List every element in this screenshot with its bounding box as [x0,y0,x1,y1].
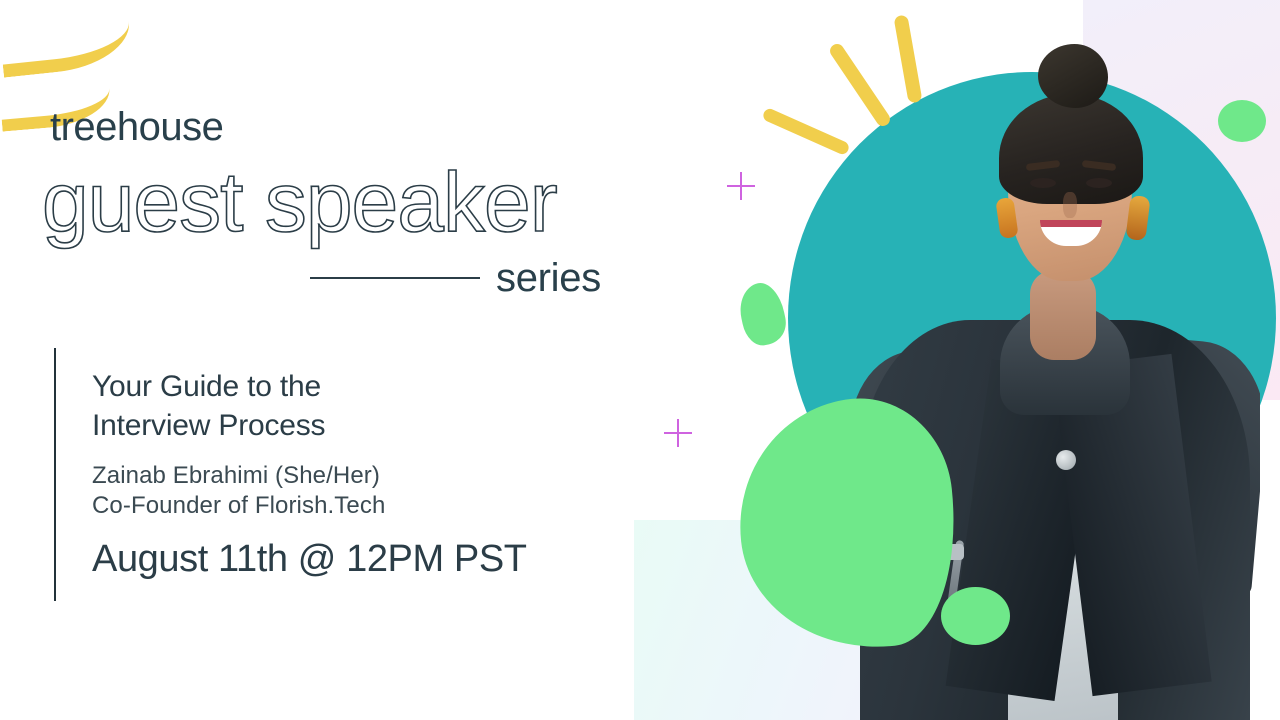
series-label: series [496,258,601,298]
eye-right [1086,178,1112,188]
speaker-name: Zainab Ebrahimi (She/Her) [92,460,380,492]
brand-name: treehouse [50,107,223,147]
text-column: treehouse guest speaker series Your Guid… [0,0,680,720]
speaker-role: Co-Founder of Florish.Tech [92,490,385,522]
eye-left [1030,178,1056,188]
green-blob-small-shape [735,279,790,349]
talk-title: Your Guide to the Interview Process [92,367,522,445]
talk-title-line-2: Interview Process [92,406,522,445]
jacket-snap-button [1056,450,1076,470]
series-divider-rule [310,277,480,279]
yellow-ray-icon [761,107,850,156]
series-row: series [310,252,630,304]
nose [1063,192,1077,218]
headline-guest-speaker: guest speaker [42,160,557,244]
hair [999,94,1143,204]
plus-mark-icon [727,172,755,200]
promo-slide: treehouse guest speaker series Your Guid… [0,0,1280,720]
neck [1030,270,1096,360]
hair-bun [1038,44,1108,108]
earring-right [1125,195,1150,241]
green-dot-bottom-shape [941,587,1010,645]
event-datetime: August 11th @ 12PM PST [92,535,527,584]
vertical-accent-bar [54,348,56,601]
talk-title-line-1: Your Guide to the [92,367,522,406]
